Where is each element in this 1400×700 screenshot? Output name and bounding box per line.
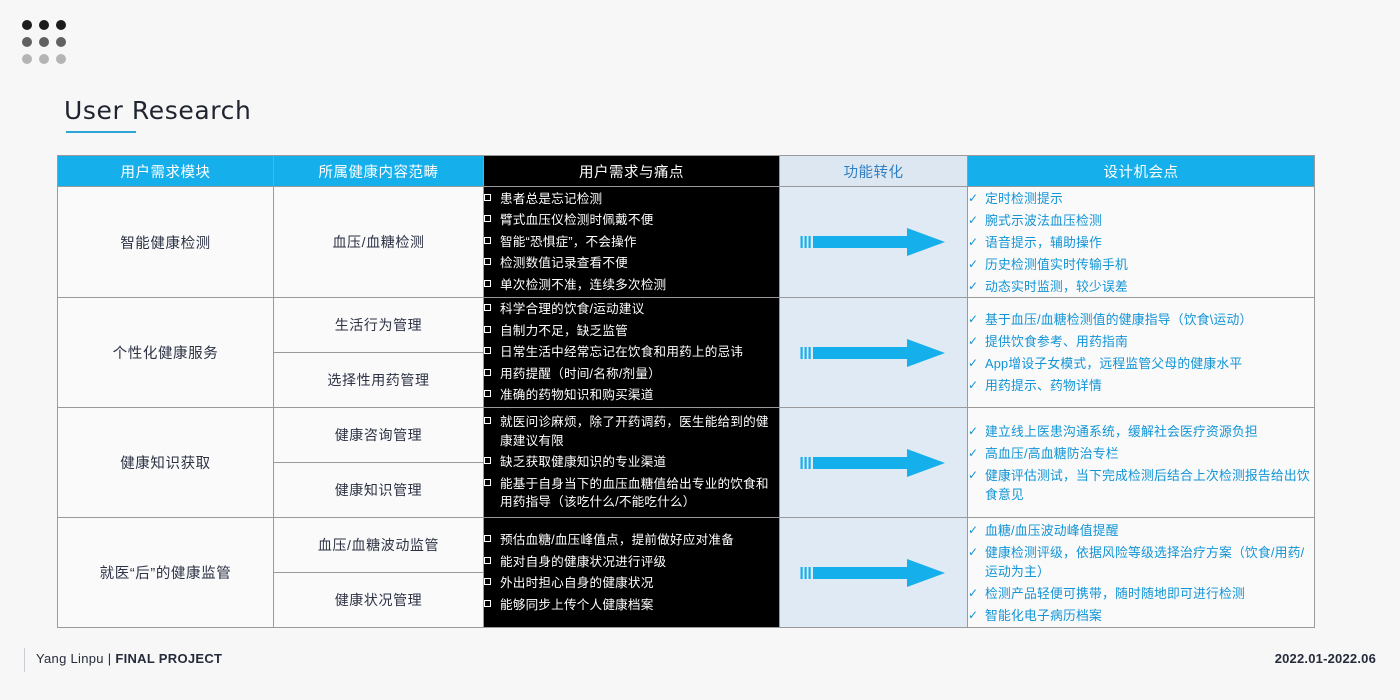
square-bullet-icon [484, 479, 491, 486]
cell-scope-1-1: 选择性用药管理 [274, 353, 484, 408]
column-header-opportunity: 设计机会点 [968, 156, 1315, 187]
opportunity-item: ✓历史检测值实时传输手机 [968, 253, 1314, 275]
check-bullet-icon: ✓ [968, 606, 978, 625]
footer-separator: | [104, 651, 116, 666]
opportunity-list: ✓血糖/血压波动峰值提醒✓健康检测评级，依据风险等级选择治疗方案（饮食/用药/运… [968, 519, 1314, 626]
cell-pain-1: 科学合理的饮食/运动建议自制力不足，缺乏监管日常生活中经常忘记在饮食和用药上的忌… [484, 298, 780, 408]
check-bullet-icon: ✓ [968, 277, 978, 296]
square-bullet-icon [484, 390, 491, 397]
pain-point-item: 单次检测不准，连续多次检测 [484, 274, 779, 296]
cell-scope-2-1: 健康知识管理 [274, 463, 484, 518]
opportunity-item: ✓腕式示波法血压检测 [968, 209, 1314, 231]
cell-module-2: 健康知识获取 [58, 408, 274, 518]
square-bullet-icon [484, 535, 491, 542]
square-bullet-icon [484, 557, 491, 564]
pain-point-item: 智能“恐惧症”，不会操作 [484, 231, 779, 253]
pain-point-item: 能基于自身当下的血压血糖值给出专业的饮食和用药指导（该吃什么/不能吃什么） [484, 473, 779, 513]
footer-credit: Yang Linpu | FINAL PROJECT [36, 651, 222, 666]
opportunity-item: ✓建立线上医患沟通系统，缓解社会医疗资源负担 [968, 420, 1314, 442]
check-bullet-icon: ✓ [968, 332, 978, 351]
opportunity-item: ✓健康评估测试，当下完成检测后结合上次检测报告给出饮食意见 [968, 464, 1314, 505]
column-header-pain: 用户需求与痛点 [484, 156, 780, 187]
opportunity-list: ✓定时检测提示✓腕式示波法血压检测✓语音提示，辅助操作✓历史检测值实时传输手机✓… [968, 187, 1314, 297]
pain-point-item: 外出时担心自身的健康状况 [484, 573, 779, 595]
cell-scope-2-0: 健康咨询管理 [274, 408, 484, 463]
footer-date-range: 2022.01-2022.06 [1275, 651, 1376, 666]
opportunity-list: ✓建立线上医患沟通系统，缓解社会医疗资源负担✓高血压/高血糖防治专栏✓健康评估测… [968, 420, 1314, 505]
square-bullet-icon [484, 194, 491, 201]
cell-function-0 [780, 187, 968, 298]
pain-point-list: 就医问诊麻烦，除了开药调药，医生能给到的健康建议有限缺乏获取健康知识的专业渠道能… [484, 412, 779, 514]
cell-opportunity-1: ✓基于血压/血糖检测值的健康指导（饮食\运动）✓提供饮食参考、用药指南✓App增… [968, 298, 1315, 408]
table-row: 就医“后”的健康监管血压/血糖波动监管预估血糖/血压峰值点，提前做好应对准备能对… [58, 518, 1315, 573]
square-bullet-icon [484, 347, 491, 354]
opportunity-item: ✓智能化电子病历档案 [968, 604, 1314, 626]
cell-opportunity-3: ✓血糖/血压波动峰值提醒✓健康检测评级，依据风险等级选择治疗方案（饮食/用药/运… [968, 518, 1315, 628]
pain-point-item: 准确的药物知识和购买渠道 [484, 385, 779, 407]
cell-function-3 [780, 518, 968, 628]
pain-point-list: 患者总是忘记检测臂式血压仪检测时佩戴不便智能“恐惧症”，不会操作检测数值记录查看… [484, 188, 779, 296]
table-header-row: 用户需求模块 所属健康内容范畴 用户需求与痛点 功能转化 设计机会点 [58, 156, 1315, 187]
opportunity-item: ✓动态实时监测，较少误差 [968, 275, 1314, 297]
check-bullet-icon: ✓ [968, 354, 978, 373]
pain-point-item: 就医问诊麻烦，除了开药调药，医生能给到的健康建议有限 [484, 412, 779, 452]
pain-point-list: 科学合理的饮食/运动建议自制力不足，缺乏监管日常生活中经常忘记在饮食和用药上的忌… [484, 299, 779, 407]
opportunity-item: ✓基于血压/血糖检测值的健康指导（饮食\运动） [968, 309, 1314, 331]
cell-scope-0-0: 血压/血糖检测 [274, 187, 484, 298]
check-bullet-icon: ✓ [968, 189, 978, 208]
pain-point-item: 患者总是忘记检测 [484, 188, 779, 210]
pain-point-item: 预估血糖/血压峰值点，提前做好应对准备 [484, 530, 779, 552]
cell-function-2 [780, 408, 968, 518]
pain-point-item: 缺乏获取健康知识的专业渠道 [484, 452, 779, 474]
cell-function-1 [780, 298, 968, 408]
check-bullet-icon: ✓ [968, 422, 978, 441]
opportunity-item: ✓语音提示，辅助操作 [968, 231, 1314, 253]
check-bullet-icon: ✓ [968, 376, 978, 395]
pain-point-item: 日常生活中经常忘记在饮食和用药上的忌讳 [484, 342, 779, 364]
check-bullet-icon: ✓ [968, 466, 978, 485]
column-header-module: 用户需求模块 [58, 156, 274, 187]
logo-dot [22, 37, 32, 47]
right-arrow-icon [780, 556, 967, 590]
cell-module-1: 个性化健康服务 [58, 298, 274, 408]
nine-dot-logo [22, 20, 66, 64]
cell-module-0: 智能健康检测 [58, 187, 274, 298]
opportunity-item: ✓高血压/高血糖防治专栏 [968, 442, 1314, 464]
logo-dot [22, 20, 32, 30]
check-bullet-icon: ✓ [968, 521, 978, 540]
logo-dot [56, 37, 66, 47]
logo-dot [39, 20, 49, 30]
square-bullet-icon [484, 369, 491, 376]
right-arrow-icon [780, 446, 967, 480]
square-bullet-icon [484, 304, 491, 311]
logo-dot [56, 20, 66, 30]
square-bullet-icon [484, 578, 491, 585]
square-bullet-icon [484, 417, 491, 424]
opportunity-item: ✓血糖/血压波动峰值提醒 [968, 519, 1314, 541]
column-header-scope: 所属健康内容范畴 [274, 156, 484, 187]
opportunity-item: ✓定时检测提示 [968, 187, 1314, 209]
check-bullet-icon: ✓ [968, 584, 978, 603]
check-bullet-icon: ✓ [968, 310, 978, 329]
footer-divider [24, 648, 25, 672]
cell-pain-3: 预估血糖/血压峰值点，提前做好应对准备能对自身的健康状况进行评级外出时担心自身的… [484, 518, 780, 628]
user-research-matrix: 用户需求模块 所属健康内容范畴 用户需求与痛点 功能转化 设计机会点 智能健康检… [57, 155, 1315, 628]
check-bullet-icon: ✓ [968, 211, 978, 230]
right-arrow-icon [780, 336, 967, 370]
footer-author: Yang Linpu [36, 651, 104, 666]
square-bullet-icon [484, 258, 491, 265]
cell-pain-0: 患者总是忘记检测臂式血压仪检测时佩戴不便智能“恐惧症”，不会操作检测数值记录查看… [484, 187, 780, 298]
check-bullet-icon: ✓ [968, 543, 978, 562]
pain-point-item: 检测数值记录查看不便 [484, 253, 779, 275]
opportunity-item: ✓用药提示、药物详情 [968, 375, 1314, 397]
cell-scope-1-0: 生活行为管理 [274, 298, 484, 353]
opportunity-item: ✓检测产品轻便可携带，随时随地即可进行检测 [968, 582, 1314, 604]
pain-point-item: 用药提醒（时间/名称/剂量） [484, 363, 779, 385]
logo-dot [39, 37, 49, 47]
cell-scope-3-1: 健康状况管理 [274, 573, 484, 628]
opportunity-item: ✓App增设子女模式，远程监管父母的健康水平 [968, 353, 1314, 375]
footer-project: FINAL PROJECT [115, 651, 222, 666]
cell-scope-3-0: 血压/血糖波动监管 [274, 518, 484, 573]
pain-point-item: 臂式血压仪检测时佩戴不便 [484, 210, 779, 232]
cell-module-3: 就医“后”的健康监管 [58, 518, 274, 628]
cell-opportunity-2: ✓建立线上医患沟通系统，缓解社会医疗资源负担✓高血压/高血糖防治专栏✓健康评估测… [968, 408, 1315, 518]
right-arrow-icon [780, 225, 967, 259]
page-title: User Research [64, 96, 251, 125]
check-bullet-icon: ✓ [968, 444, 978, 463]
table-row: 健康知识获取健康咨询管理就医问诊麻烦，除了开药调药，医生能给到的健康建议有限缺乏… [58, 408, 1315, 463]
pain-point-item: 科学合理的饮食/运动建议 [484, 299, 779, 321]
square-bullet-icon [484, 280, 491, 287]
logo-dot [56, 54, 66, 64]
pain-point-item: 能够同步上传个人健康档案 [484, 594, 779, 616]
check-bullet-icon: ✓ [968, 255, 978, 274]
cell-opportunity-0: ✓定时检测提示✓腕式示波法血压检测✓语音提示，辅助操作✓历史检测值实时传输手机✓… [968, 187, 1315, 298]
title-underline [66, 131, 136, 133]
square-bullet-icon [484, 237, 491, 244]
opportunity-list: ✓基于血压/血糖检测值的健康指导（饮食\运动）✓提供饮食参考、用药指南✓App增… [968, 309, 1314, 397]
column-header-func: 功能转化 [780, 156, 968, 187]
square-bullet-icon [484, 215, 491, 222]
opportunity-item: ✓提供饮食参考、用药指南 [968, 331, 1314, 353]
square-bullet-icon [484, 600, 491, 607]
logo-dot [39, 54, 49, 64]
pain-point-item: 能对自身的健康状况进行评级 [484, 551, 779, 573]
check-bullet-icon: ✓ [968, 233, 978, 252]
pain-point-list: 预估血糖/血压峰值点，提前做好应对准备能对自身的健康状况进行评级外出时担心自身的… [484, 530, 779, 616]
pain-point-item: 自制力不足，缺乏监管 [484, 320, 779, 342]
square-bullet-icon [484, 326, 491, 333]
cell-pain-2: 就医问诊麻烦，除了开药调药，医生能给到的健康建议有限缺乏获取健康知识的专业渠道能… [484, 408, 780, 518]
table-row: 智能健康检测血压/血糖检测患者总是忘记检测臂式血压仪检测时佩戴不便智能“恐惧症”… [58, 187, 1315, 298]
opportunity-item: ✓健康检测评级，依据风险等级选择治疗方案（饮食/用药/运动为主） [968, 541, 1314, 582]
logo-dot [22, 54, 32, 64]
square-bullet-icon [484, 457, 491, 464]
table-row: 个性化健康服务生活行为管理科学合理的饮食/运动建议自制力不足，缺乏监管日常生活中… [58, 298, 1315, 353]
